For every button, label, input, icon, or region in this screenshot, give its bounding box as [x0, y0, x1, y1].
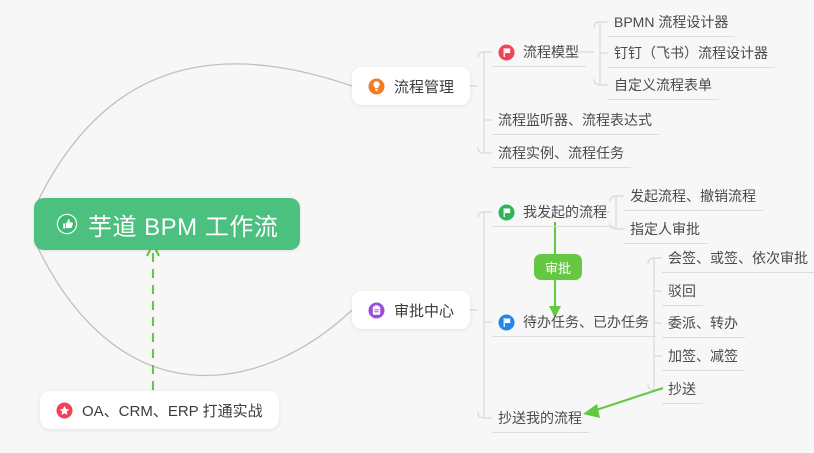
- node-label: 加签、减签: [668, 346, 738, 366]
- annotation-label: 审批: [545, 258, 571, 277]
- integration-node[interactable]: OA、CRM、ERP 打通实战: [40, 391, 279, 429]
- node-process-listener[interactable]: 流程监听器、流程表达式: [492, 106, 659, 135]
- node-bpmn-designer[interactable]: BPMN 流程设计器: [608, 8, 735, 37]
- node-label: 自定义流程表单: [614, 75, 712, 95]
- node-label: 抄送: [668, 379, 696, 399]
- node-label: 抄送我的流程: [498, 408, 582, 428]
- node-dingtalk-designer[interactable]: 钉钉（飞书）流程设计器: [608, 39, 775, 68]
- root-node[interactable]: 芋道 BPM 工作流: [34, 198, 300, 250]
- node-label: 流程模型: [523, 42, 579, 62]
- flag-icon: [498, 44, 515, 61]
- node-label: 发起流程、撤销流程: [630, 186, 756, 206]
- thumbs-up-icon: [56, 213, 78, 235]
- link-root-to-process-management: [36, 64, 352, 205]
- bracket-todo-task-bottom: [648, 384, 662, 390]
- node-label: 委派、转办: [668, 313, 738, 333]
- mindmap-canvas: 芋道 BPM 工作流 流程管理 流程模型 BPMN 流程设计器 钉钉（飞书）流程: [0, 0, 814, 453]
- node-delegate-transfer[interactable]: 委派、转办: [662, 309, 745, 338]
- annotation-approve: 审批: [534, 254, 582, 280]
- branch-approval-center[interactable]: 审批中心: [352, 291, 470, 329]
- branch-process-management[interactable]: 流程管理: [352, 67, 470, 105]
- flag-icon: [498, 314, 515, 331]
- bracket-approval-center-bottom: [478, 412, 492, 418]
- node-copied-to-me[interactable]: 抄送我的流程: [492, 404, 589, 433]
- branch-label: 审批中心: [394, 300, 454, 321]
- node-label: 流程监听器、流程表达式: [498, 110, 652, 130]
- node-assignee-approval[interactable]: 指定人审批: [624, 215, 707, 244]
- node-custom-form[interactable]: 自定义流程表单: [608, 71, 719, 100]
- node-label: BPMN 流程设计器: [614, 12, 728, 32]
- node-label: 待办任务、已办任务: [523, 312, 649, 332]
- node-start-cancel-process[interactable]: 发起流程、撤销流程: [624, 182, 763, 211]
- bracket-todo-task-top: [648, 258, 662, 264]
- node-countersign[interactable]: 会签、或签、依次审批: [662, 244, 814, 273]
- arrow-copy-to-my-copied: [590, 388, 663, 412]
- clipboard-icon: [368, 302, 385, 319]
- node-label: 驳回: [668, 281, 696, 301]
- bracket-approval-center-top: [478, 212, 492, 218]
- bracket-process-management-bottom: [478, 147, 492, 153]
- branch-label: 流程管理: [394, 76, 454, 97]
- node-carbon-copy[interactable]: 抄送: [662, 375, 703, 404]
- flag-icon: [498, 204, 515, 221]
- bracket-process-model-top: [594, 22, 608, 28]
- node-reject[interactable]: 驳回: [662, 277, 703, 306]
- node-label: 钉钉（飞书）流程设计器: [614, 43, 768, 63]
- integration-label: OA、CRM、ERP 打通实战: [82, 400, 263, 421]
- node-label: 流程实例、流程任务: [498, 143, 624, 163]
- node-label: 指定人审批: [630, 219, 700, 239]
- node-process-instance[interactable]: 流程实例、流程任务: [492, 139, 631, 168]
- bracket-process-model-bottom: [594, 79, 608, 85]
- node-todo-done-tasks[interactable]: 待办任务、已办任务: [492, 308, 656, 337]
- node-label: 我发起的流程: [523, 202, 607, 222]
- bracket-process-management-top: [478, 52, 492, 58]
- node-label: 会签、或签、依次审批: [668, 248, 808, 268]
- node-process-model[interactable]: 流程模型: [492, 38, 586, 67]
- star-icon: [56, 402, 73, 419]
- node-my-initiated-process[interactable]: 我发起的流程: [492, 198, 614, 227]
- root-label: 芋道 BPM 工作流: [88, 207, 278, 242]
- node-add-remove-sign[interactable]: 加签、减签: [662, 342, 745, 371]
- link-root-to-approval-center: [36, 244, 352, 375]
- lightbulb-icon: [368, 78, 385, 95]
